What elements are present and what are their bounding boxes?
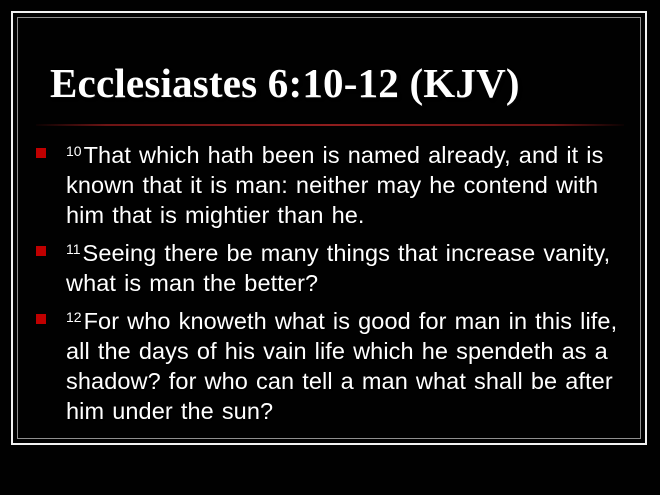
list-item: 11Seeing there be many things that incre… (34, 234, 632, 298)
verse-number: 11 (66, 241, 81, 257)
slide-body-list: 10That which hath been is named already,… (34, 136, 632, 430)
red-square-bullet-icon (36, 314, 46, 324)
list-item: 12For who knoweth what is good for man i… (34, 302, 632, 426)
verse-number: 10 (66, 143, 82, 159)
bullet-text-block: 12For who knoweth what is good for man i… (66, 302, 632, 426)
verse-number: 12 (66, 309, 82, 325)
slide-title: Ecclesiastes 6:10-12 (KJV) (50, 60, 610, 106)
verse-body: For who knoweth what is good for man in … (66, 308, 617, 424)
verse-body: Seeing there be many things that increas… (66, 240, 610, 296)
verse-body: That which hath been is named already, a… (66, 142, 603, 228)
slide-canvas: Ecclesiastes 6:10-12 (KJV) 10That which … (0, 0, 660, 495)
list-item: 10That which hath been is named already,… (34, 136, 632, 230)
bullet-text-block: 10That which hath been is named already,… (66, 136, 632, 230)
red-square-bullet-icon (36, 148, 46, 158)
bullet-text-block: 11Seeing there be many things that incre… (66, 234, 632, 298)
red-square-bullet-icon (36, 246, 46, 256)
title-divider-rule (36, 124, 624, 126)
